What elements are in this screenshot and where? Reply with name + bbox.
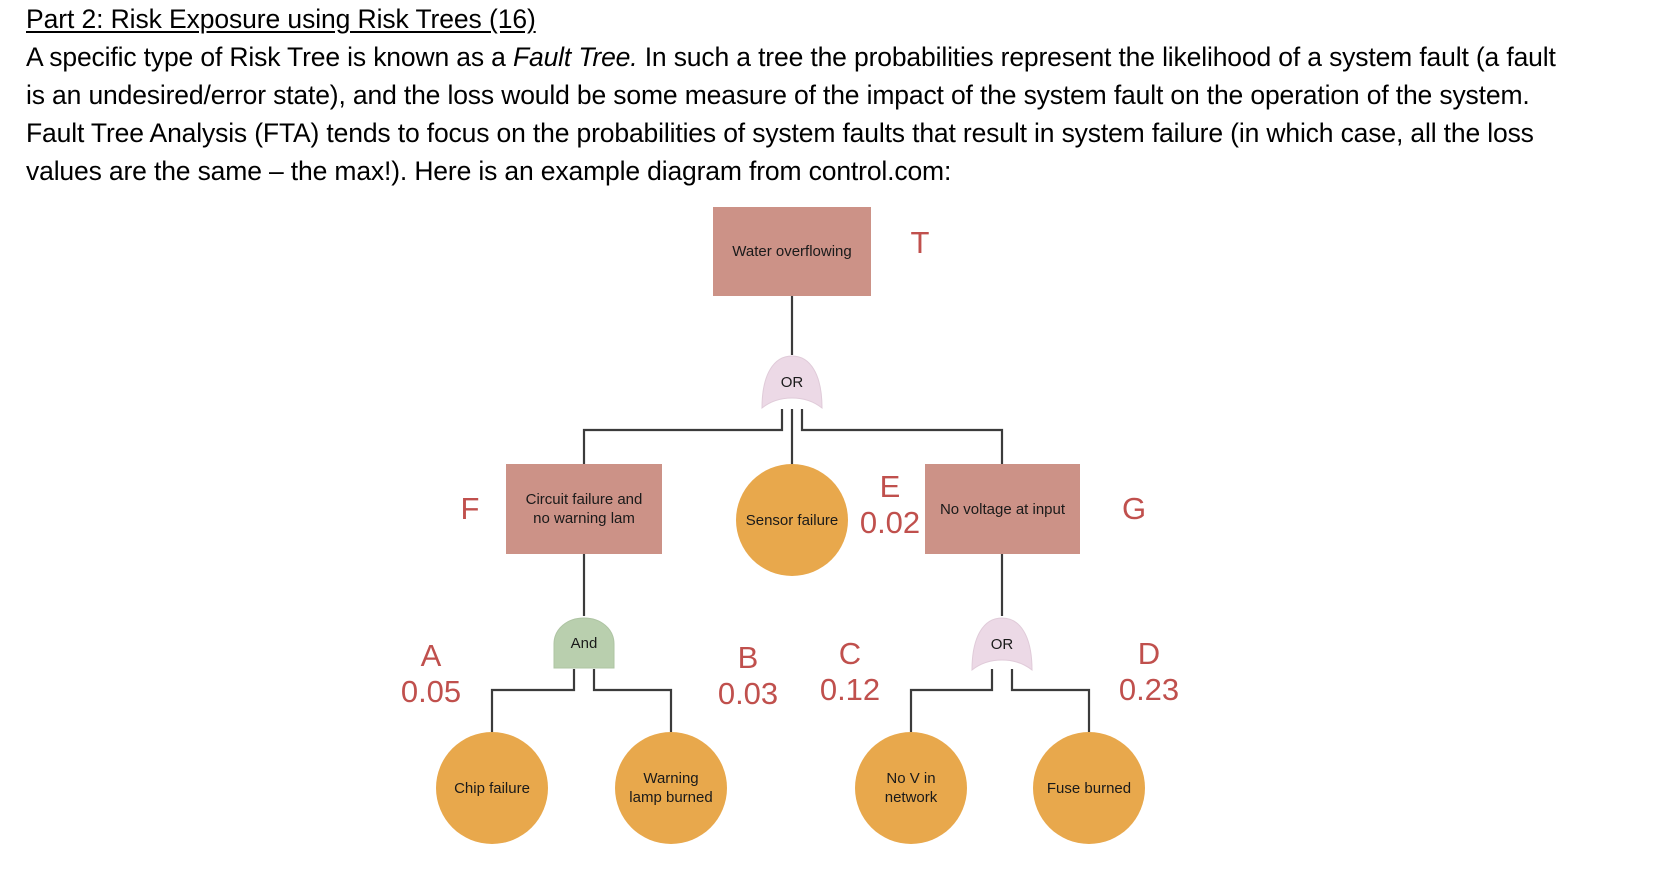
tag-d: D 0.23 — [1114, 636, 1184, 708]
tag-f: F — [448, 491, 492, 527]
prose-block: Part 2: Risk Exposure using Risk Trees (… — [26, 2, 1562, 190]
tag-letter: F — [448, 491, 492, 527]
node-fuse-burned[interactable]: Fuse burned — [1033, 732, 1145, 844]
gate-label: OR — [781, 374, 804, 391]
node-label: Warning lamp burned — [629, 769, 713, 807]
gate-and[interactable]: And — [552, 616, 616, 670]
tag-probability: 0.23 — [1114, 672, 1184, 708]
tag-letter: T — [898, 225, 942, 261]
tag-letter: C — [815, 636, 885, 672]
gate-or-second[interactable]: OR — [970, 616, 1034, 672]
fault-tree-diagram: Water overflowing T OR Circuit failure a… — [0, 196, 1668, 892]
tag-c: C 0.12 — [815, 636, 885, 708]
gate-label: OR — [991, 636, 1014, 653]
node-label: No voltage at input — [940, 500, 1065, 519]
tag-letter: B — [713, 640, 783, 676]
body-paragraph: A specific type of Risk Tree is known as… — [26, 38, 1562, 190]
node-water-overflowing[interactable]: Water overflowing — [713, 207, 871, 296]
tag-probability: 0.05 — [396, 674, 466, 710]
node-no-voltage-at-input[interactable]: No voltage at input — [925, 464, 1080, 554]
tag-g: G — [1112, 491, 1156, 527]
tag-t: T — [898, 225, 942, 261]
node-chip-failure[interactable]: Chip failure — [436, 732, 548, 844]
tag-letter: A — [396, 638, 466, 674]
tag-probability: 0.12 — [815, 672, 885, 708]
node-label: Fuse burned — [1047, 779, 1131, 798]
node-label: Sensor failure — [746, 511, 839, 530]
tag-probability: 0.02 — [855, 505, 925, 541]
node-label: Circuit failure and no warning lam — [516, 490, 652, 528]
tag-probability: 0.03 — [713, 676, 783, 712]
tag-letter: E — [855, 469, 925, 505]
tag-letter: D — [1114, 636, 1184, 672]
node-label: No V in network — [859, 769, 963, 807]
node-sensor-failure[interactable]: Sensor failure — [736, 464, 848, 576]
tag-letter: G — [1112, 491, 1156, 527]
node-label: Water overflowing — [732, 242, 852, 261]
paragraph-prefix: A specific type of Risk Tree is known as… — [26, 42, 513, 72]
page-title: Part 2: Risk Exposure using Risk Trees (… — [26, 2, 1562, 36]
tag-b: B 0.03 — [713, 640, 783, 712]
node-no-v-in-network[interactable]: No V in network — [855, 732, 967, 844]
tag-e: E 0.02 — [855, 469, 925, 541]
node-label: Chip failure — [454, 779, 530, 798]
node-warning-lamp-burned[interactable]: Warning lamp burned — [615, 732, 727, 844]
node-circuit-failure[interactable]: Circuit failure and no warning lam — [506, 464, 662, 554]
tag-a: A 0.05 — [396, 638, 466, 710]
gate-label: And — [571, 635, 598, 652]
paragraph-italic-term: Fault Tree. — [513, 42, 638, 72]
gate-or-top[interactable]: OR — [760, 354, 824, 410]
